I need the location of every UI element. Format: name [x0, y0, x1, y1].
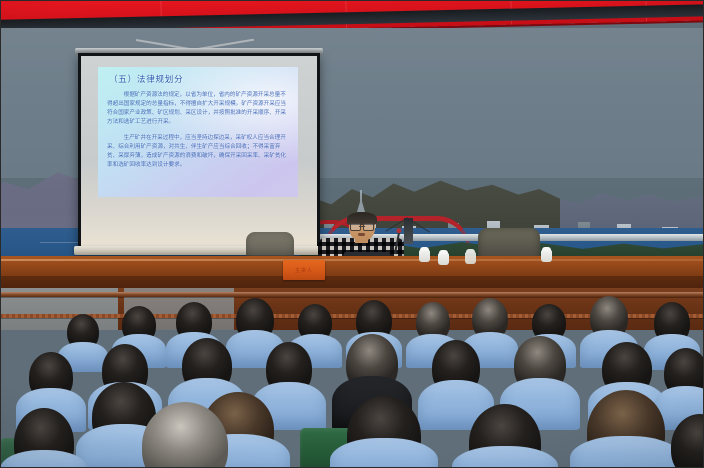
slide-paragraph-2: 生产矿井在开采过程中，应当坚持边探边采，采矿权人应当合理开采、综合利用矿产资源，… [107, 134, 289, 170]
head [671, 414, 704, 468]
photograph-scene: （五）法律规划分 根据矿产资源法的规定，以省为单位，省内的矿产资源开采总量不得超… [0, 0, 704, 468]
audience-member [0, 408, 88, 468]
teacup [541, 250, 552, 262]
uniform-shirt [0, 450, 88, 468]
audience-member [452, 404, 558, 468]
teacup [465, 252, 476, 264]
screen-surface: （五）法律规划分 根据矿产资源法的规定，以省为单位，省内的矿产资源开采总量不得超… [81, 56, 317, 246]
slide-title: （五）法律规划分 [109, 73, 289, 85]
audience [0, 296, 704, 468]
eyeglasses-icon [350, 223, 374, 229]
uniform-shirt [452, 446, 558, 468]
teacup [419, 250, 430, 262]
head [142, 402, 228, 468]
projection-screen[interactable]: （五）法律规划分 根据矿产资源法的规定，以省为单位，省内的矿产资源开采总量不得超… [78, 48, 320, 260]
teacup [438, 253, 449, 265]
desk-nameplate: 主讲人 [283, 260, 325, 280]
nameplate-text: 主讲人 [283, 260, 325, 274]
slide-paragraph-1: 根据矿产资源法的规定，以省为单位，省内的矿产资源开采总量不得超出国家规定的总量指… [107, 91, 289, 127]
audience-member [126, 402, 244, 468]
screen-frame: （五）法律规划分 根据矿产资源法的规定，以省为单位，省内的矿产资源开采总量不得超… [78, 53, 320, 249]
audience-member [660, 414, 704, 468]
presentation-slide: （五）法律规划分 根据矿产资源法的规定，以省为单位，省内的矿产资源开采总量不得超… [98, 67, 298, 197]
audience-member [330, 396, 438, 468]
uniform-shirt [330, 438, 438, 468]
speaker-mouth [358, 233, 365, 236]
